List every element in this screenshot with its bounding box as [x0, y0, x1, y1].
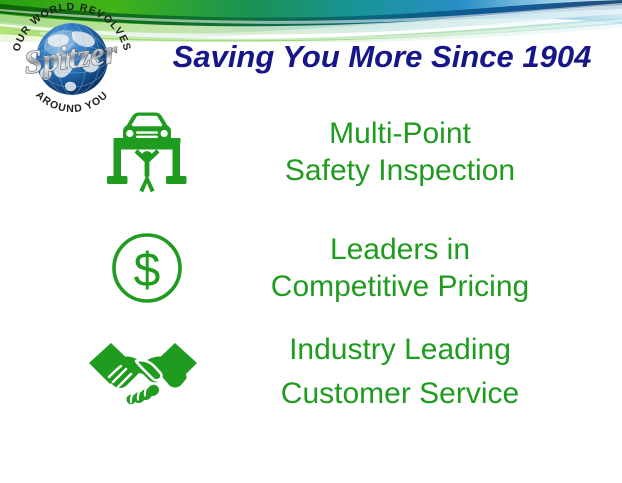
- feature-2-line-2: Competitive Pricing: [212, 268, 588, 305]
- dollar-circle-icon-wrap: $: [88, 229, 206, 307]
- handshake-icon-wrap: [80, 335, 206, 409]
- spitzer-logo[interactable]: OUR WORLD REVOLVES AROUND YOU Spitzer: [4, 2, 140, 114]
- spitzer-logo-graphic: OUR WORLD REVOLVES AROUND YOU Spitzer: [4, 2, 140, 114]
- dollar-circle-icon: $: [108, 229, 186, 307]
- logo-wordmark: Spitzer: [22, 34, 120, 81]
- feature-2-line-1: Leaders in: [212, 231, 588, 268]
- feature-multi-point-safety-inspection: Multi-Point Safety Inspection: [88, 106, 588, 198]
- feature-1-text: Multi-Point Safety Inspection: [206, 115, 588, 189]
- car-lift-icon: [101, 110, 193, 194]
- svg-text:Spitzer: Spitzer: [22, 34, 120, 81]
- handshake-icon: [87, 335, 199, 409]
- car-lift-icon-wrap: [88, 110, 206, 194]
- page-title: Saving You More Since 1904: [150, 40, 614, 74]
- feature-1-line-1: Multi-Point: [212, 115, 588, 152]
- feature-competitive-pricing: $ Leaders in Competitive Pricing: [88, 222, 588, 314]
- feature-3-text: Industry Leading Customer Service: [206, 328, 590, 416]
- feature-3-line-2: Customer Service: [210, 372, 590, 416]
- feature-customer-service: Industry Leading Customer Service: [80, 326, 590, 418]
- feature-1-line-2: Safety Inspection: [212, 152, 588, 189]
- feature-2-text: Leaders in Competitive Pricing: [206, 231, 588, 305]
- dollar-sign-glyph: $: [134, 244, 161, 297]
- feature-3-line-1: Industry Leading: [210, 328, 590, 372]
